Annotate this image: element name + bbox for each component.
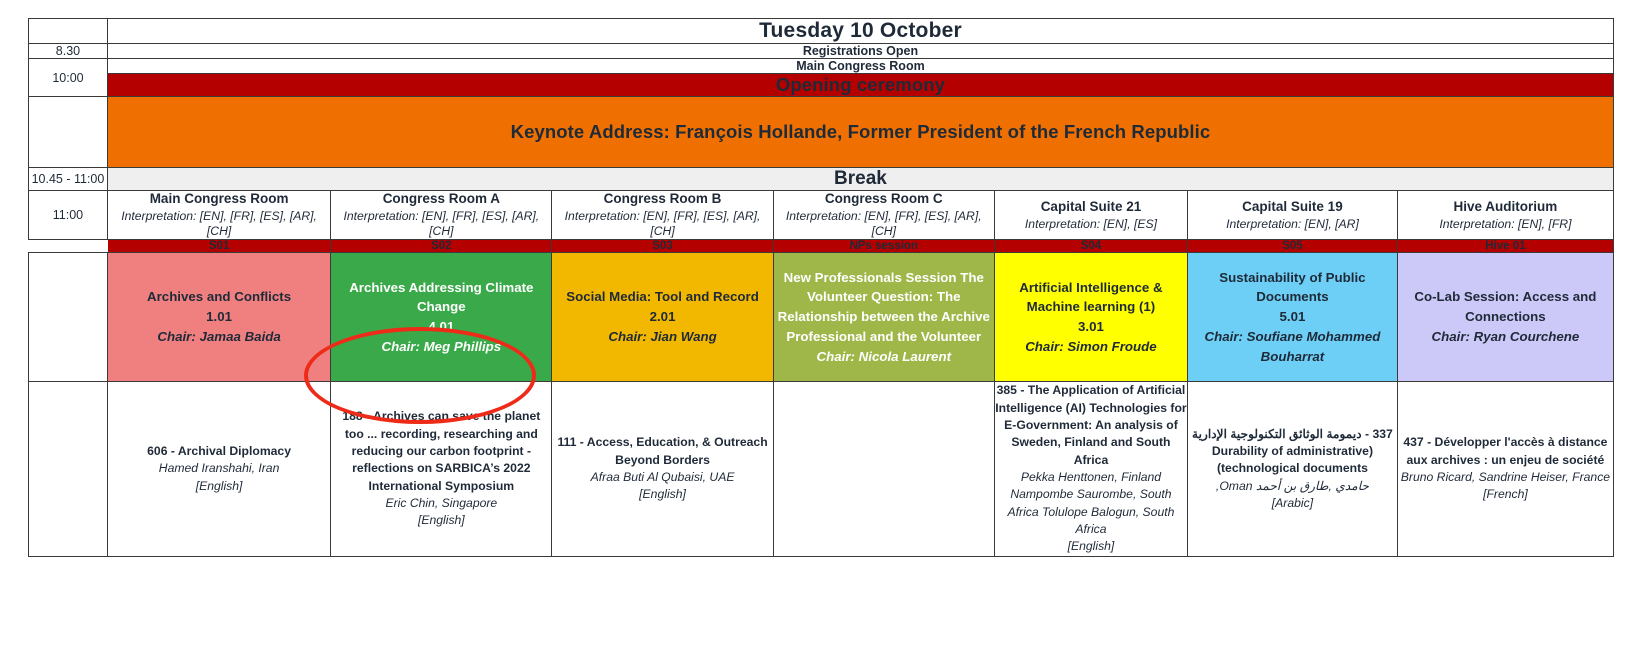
room-header-main-congress-room: Main Congress Room Interpretation: [EN],… [107, 191, 330, 240]
session-code-s01[interactable]: S01 [107, 240, 330, 253]
session-chair: Chair: Jian Wang [552, 327, 772, 347]
session-cell-s02[interactable]: Archives Addressing Climate Change 4.01 … [331, 253, 552, 382]
registrations-open-label: Registrations Open [107, 44, 1613, 59]
session-title: New Professionals Session The Volunteer … [774, 268, 994, 348]
room-interpretation: Interpretation: [EN], [AR] [1188, 217, 1397, 232]
break-row: 10.45 - 11:00 Break [29, 168, 1614, 191]
session-row-time-spacer [29, 253, 108, 382]
session-title: Social Media: Tool and Record [552, 287, 772, 307]
paper-language: [Arabic] [1188, 495, 1397, 512]
room-header-congress-room-a: Congress Room A Interpretation: [EN], [F… [331, 191, 552, 240]
room-name: Congress Room C [774, 191, 994, 208]
room-header-row: 11:00 Main Congress Room Interpretation:… [29, 191, 1614, 240]
session-chair: Chair: Jamaa Baida [108, 327, 330, 347]
paper-authors: Pekka Henttonen, Finland Nampombe Saurom… [995, 469, 1187, 538]
time-cell-blank [29, 19, 108, 44]
session-chair: Chair: Simon Froude [995, 337, 1187, 357]
session-chair: Chair: Nicola Laurent [774, 347, 994, 367]
session-chair: Chair: Meg Phillips [331, 337, 551, 357]
room-name: Congress Room A [331, 191, 551, 208]
room-header-congress-room-c: Congress Room C Interpretation: [EN], [F… [773, 191, 994, 240]
session-code-nps[interactable]: NPs session [773, 240, 994, 253]
paper-authors: حامدي ,طارق بن أحمد Oman, [1188, 478, 1397, 495]
paper-row: 606 - Archival Diplomacy Hamed Iranshahi… [29, 382, 1614, 556]
main-congress-room-label: Main Congress Room [107, 59, 1613, 74]
paper-cell-s03[interactable]: 111 - Access, Education, & Outreach Beyo… [552, 382, 773, 556]
main-room-row: 10:00 Main Congress Room [29, 59, 1614, 74]
session-cell-s01[interactable]: Archives and Conflicts 1.01 Chair: Jamaa… [107, 253, 330, 382]
session-code-hive01[interactable]: Hive 01 [1397, 240, 1613, 253]
paper-title: 385 - The Application of Artificial Inte… [995, 382, 1187, 469]
room-header-capital-suite-19: Capital Suite 19 Interpretation: [EN], [… [1188, 191, 1398, 240]
session-cell-s04[interactable]: Artificial Intelligence & Machine learni… [994, 253, 1187, 382]
day-title: Tuesday 10 October [107, 19, 1613, 44]
room-name: Capital Suite 19 [1188, 199, 1397, 216]
paper-title: 437 - Développer l'accès à distance aux … [1398, 434, 1613, 469]
session-code-s02[interactable]: S02 [331, 240, 552, 253]
paper-title: 111 - Access, Education, & Outreach Beyo… [552, 434, 772, 469]
room-interpretation: Interpretation: [EN], [FR] [1398, 217, 1613, 232]
break-label: Break [107, 168, 1613, 191]
room-header-hive-auditorium: Hive Auditorium Interpretation: [EN], [F… [1397, 191, 1613, 240]
room-interpretation: Interpretation: [EN], [FR], [ES], [AR], … [331, 209, 551, 240]
paper-language: [English] [108, 478, 330, 495]
opening-ceremony-banner: Opening ceremony [107, 74, 1613, 97]
room-interpretation: Interpretation: [EN], [FR], [ES], [AR], … [552, 209, 772, 240]
time-label-keynote [29, 97, 108, 168]
paper-language: [English] [552, 486, 772, 503]
paper-title: 337 - ديمومة الوثائق التكنولوجية الإداري… [1188, 426, 1397, 478]
session-code-row: S01 S02 S03 NPs session S04 S05 Hive 01 [29, 240, 1614, 253]
paper-cell-nps[interactable] [773, 382, 994, 556]
paper-language: [English] [331, 512, 551, 529]
room-name: Hive Auditorium [1398, 199, 1613, 216]
keynote-row: Keynote Address: François Hollande, Form… [29, 97, 1614, 168]
session-chair: Chair: Soufiane Mohammed Bouharrat [1188, 327, 1397, 367]
session-number: 5.01 [1188, 307, 1397, 327]
room-interpretation: Interpretation: [EN], [FR], [ES], [AR], … [108, 209, 330, 240]
paper-authors: Afraa Buti Al Qubaisi, UAE [552, 469, 772, 486]
paper-cell-s05[interactable]: 337 - ديمومة الوثائق التكنولوجية الإداري… [1188, 382, 1398, 556]
session-code-s05[interactable]: S05 [1188, 240, 1398, 253]
session-title: Archives Addressing Climate Change [331, 278, 551, 318]
session-title-row: Archives and Conflicts 1.01 Chair: Jamaa… [29, 253, 1614, 382]
session-chair: Chair: Ryan Courchene [1398, 327, 1613, 347]
room-header-congress-room-b: Congress Room B Interpretation: [EN], [F… [552, 191, 773, 240]
session-number: 4.01 [331, 317, 551, 337]
room-name: Main Congress Room [108, 191, 330, 208]
session-title: Artificial Intelligence & Machine learni… [995, 278, 1187, 318]
keynote-banner: Keynote Address: François Hollande, Form… [107, 97, 1613, 168]
code-row-spacer [29, 240, 108, 253]
time-label-break: 10.45 - 11:00 [29, 168, 108, 191]
room-interpretation: Interpretation: [EN], [ES] [995, 217, 1187, 232]
room-header-capital-suite-21: Capital Suite 21 Interpretation: [EN], [… [994, 191, 1187, 240]
session-cell-s05[interactable]: Sustainability of Public Documents 5.01 … [1188, 253, 1398, 382]
paper-language: [French] [1398, 486, 1613, 503]
time-label-0830: 8.30 [29, 44, 108, 59]
time-label-1100: 11:00 [29, 191, 108, 240]
paper-cell-s02[interactable]: 188 - Archives can save the planet too .… [331, 382, 552, 556]
day-title-row: Tuesday 10 October [29, 19, 1614, 44]
paper-cell-s01[interactable]: 606 - Archival Diplomacy Hamed Iranshahi… [107, 382, 330, 556]
session-number: 2.01 [552, 307, 772, 327]
paper-row-time-spacer [29, 382, 108, 556]
paper-authors: Hamed Iranshahi, Iran [108, 460, 330, 477]
schedule-page: Tuesday 10 October 8.30 Registrations Op… [0, 18, 1650, 666]
session-cell-s03[interactable]: Social Media: Tool and Record 2.01 Chair… [552, 253, 773, 382]
time-label-1000: 10:00 [29, 59, 108, 97]
session-title: Archives and Conflicts [108, 287, 330, 307]
conference-schedule-table: Tuesday 10 October 8.30 Registrations Op… [28, 18, 1614, 557]
room-interpretation: Interpretation: [EN], [FR], [ES], [AR], … [774, 209, 994, 240]
session-number: 1.01 [108, 307, 330, 327]
session-title: Sustainability of Public Documents [1188, 268, 1397, 308]
opening-ceremony-row: Opening ceremony [29, 74, 1614, 97]
paper-title: 188 - Archives can save the planet too .… [331, 408, 551, 495]
room-name: Congress Room B [552, 191, 772, 208]
paper-authors: Eric Chin, Singapore [331, 495, 551, 512]
session-number: 3.01 [995, 317, 1187, 337]
session-title: Co-Lab Session: Access and Connections [1398, 287, 1613, 327]
paper-authors: Bruno Ricard, Sandrine Heiser, France [1398, 469, 1613, 486]
room-name: Capital Suite 21 [995, 199, 1187, 216]
session-cell-hive01[interactable]: Co-Lab Session: Access and Connections C… [1397, 253, 1613, 382]
registrations-row: 8.30 Registrations Open [29, 44, 1614, 59]
paper-language: [English] [995, 538, 1187, 555]
session-code-s03[interactable]: S03 [552, 240, 773, 253]
paper-cell-s04[interactable]: 385 - The Application of Artificial Inte… [994, 382, 1187, 556]
session-cell-nps[interactable]: New Professionals Session The Volunteer … [773, 253, 994, 382]
session-code-s04[interactable]: S04 [994, 240, 1187, 253]
paper-cell-hive01[interactable]: 437 - Développer l'accès à distance aux … [1397, 382, 1613, 556]
paper-title: 606 - Archival Diplomacy [108, 443, 330, 460]
